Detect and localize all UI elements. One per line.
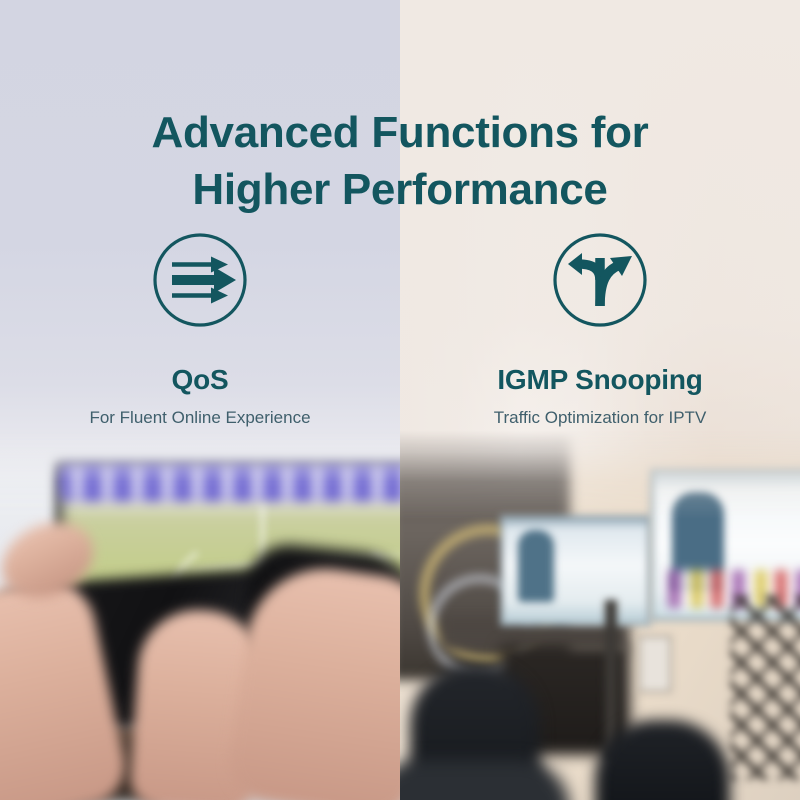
three-arrows-icon (148, 228, 252, 332)
page-title: Advanced Functions for Higher Performanc… (0, 105, 800, 218)
feature-item-qos: QoS For Fluent Online Experience (0, 228, 400, 428)
feature-item-igmp-snooping: IGMP Snooping Traffic Optimization for I… (400, 228, 800, 428)
page-title-line-1: Advanced Functions for (0, 105, 800, 161)
feature-title-igmp-snooping: IGMP Snooping (497, 364, 702, 396)
feature-subtitle-qos: For Fluent Online Experience (89, 408, 310, 428)
branching-arrows-icon (548, 228, 652, 332)
feature-list: QoS For Fluent Online Experience (0, 228, 800, 428)
content-overlay: Advanced Functions for Higher Performanc… (0, 0, 800, 800)
page-title-line-2: Higher Performance (0, 162, 800, 218)
promo-banner: Advanced Functions for Higher Performanc… (0, 0, 800, 800)
feature-subtitle-igmp-snooping: Traffic Optimization for IPTV (494, 408, 707, 428)
feature-title-qos: QoS (172, 364, 229, 396)
